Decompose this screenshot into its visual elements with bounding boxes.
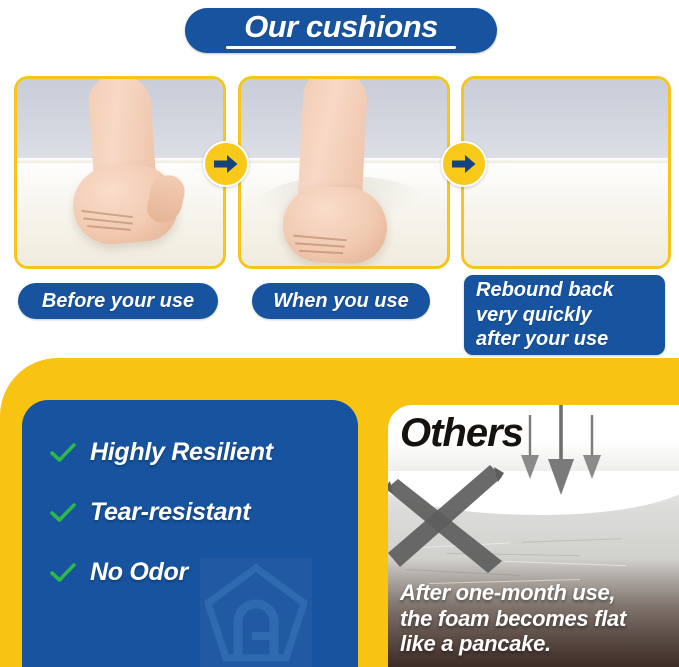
caption-line-2: very quickly xyxy=(476,303,592,328)
infographic-canvas: Our cushions xyxy=(0,0,679,667)
others-title: Others xyxy=(400,413,523,453)
page-title: Our cushions xyxy=(244,11,438,42)
pentagon-home-logo-icon xyxy=(200,558,312,667)
caption-line-3: after your use xyxy=(476,327,608,352)
check-icon xyxy=(50,443,76,463)
caption-rebound-back: Rebound back very quickly after your use xyxy=(464,275,665,355)
features-panel: Highly Resilient Tear-resistant No Odor xyxy=(22,400,358,667)
caption-line-1: Rebound back xyxy=(476,278,614,303)
foam-edge xyxy=(464,158,668,163)
step-photo-after xyxy=(461,76,671,269)
check-icon xyxy=(50,503,76,523)
arrow-right-glyph xyxy=(214,154,238,174)
title-underline xyxy=(226,46,456,49)
others-caption-line-1: After one-month use, xyxy=(400,580,671,606)
step-photo-during xyxy=(238,76,450,269)
arrow-down-icon xyxy=(516,405,606,507)
foam-block xyxy=(464,158,668,266)
caption-when-you-use: When you use xyxy=(252,283,430,319)
foam-scene-3 xyxy=(464,79,668,266)
others-caption-line-2: the foam becomes flat xyxy=(400,606,671,632)
check-icon xyxy=(50,563,76,583)
step-photo-before xyxy=(14,76,226,269)
x-cross-brush-icon xyxy=(388,463,518,575)
feature-label: Tear-resistant xyxy=(90,498,250,527)
background-wall xyxy=(464,79,668,161)
pentagon-home-logo-glyph xyxy=(200,558,312,667)
arrow-right-icon xyxy=(441,141,487,187)
feature-item: Tear-resistant xyxy=(50,498,250,527)
feature-item: No Odor xyxy=(50,558,188,587)
feature-label: Highly Resilient xyxy=(90,438,273,467)
others-caption: After one-month use, the foam becomes fl… xyxy=(400,580,671,657)
feature-item: Highly Resilient xyxy=(50,438,273,467)
others-comparison-panel: Others After one-month use, the foam bec… xyxy=(388,405,679,667)
page-title-banner: Our cushions xyxy=(185,8,497,53)
arrow-right-icon xyxy=(203,141,249,187)
arrow-right-glyph xyxy=(452,154,476,174)
others-caption-line-3: like a pancake. xyxy=(400,631,671,657)
caption-before-your-use: Before your use xyxy=(18,283,218,319)
foam-scene-2 xyxy=(241,79,447,266)
feature-label: No Odor xyxy=(90,558,188,587)
foam-scene-1 xyxy=(17,79,223,266)
